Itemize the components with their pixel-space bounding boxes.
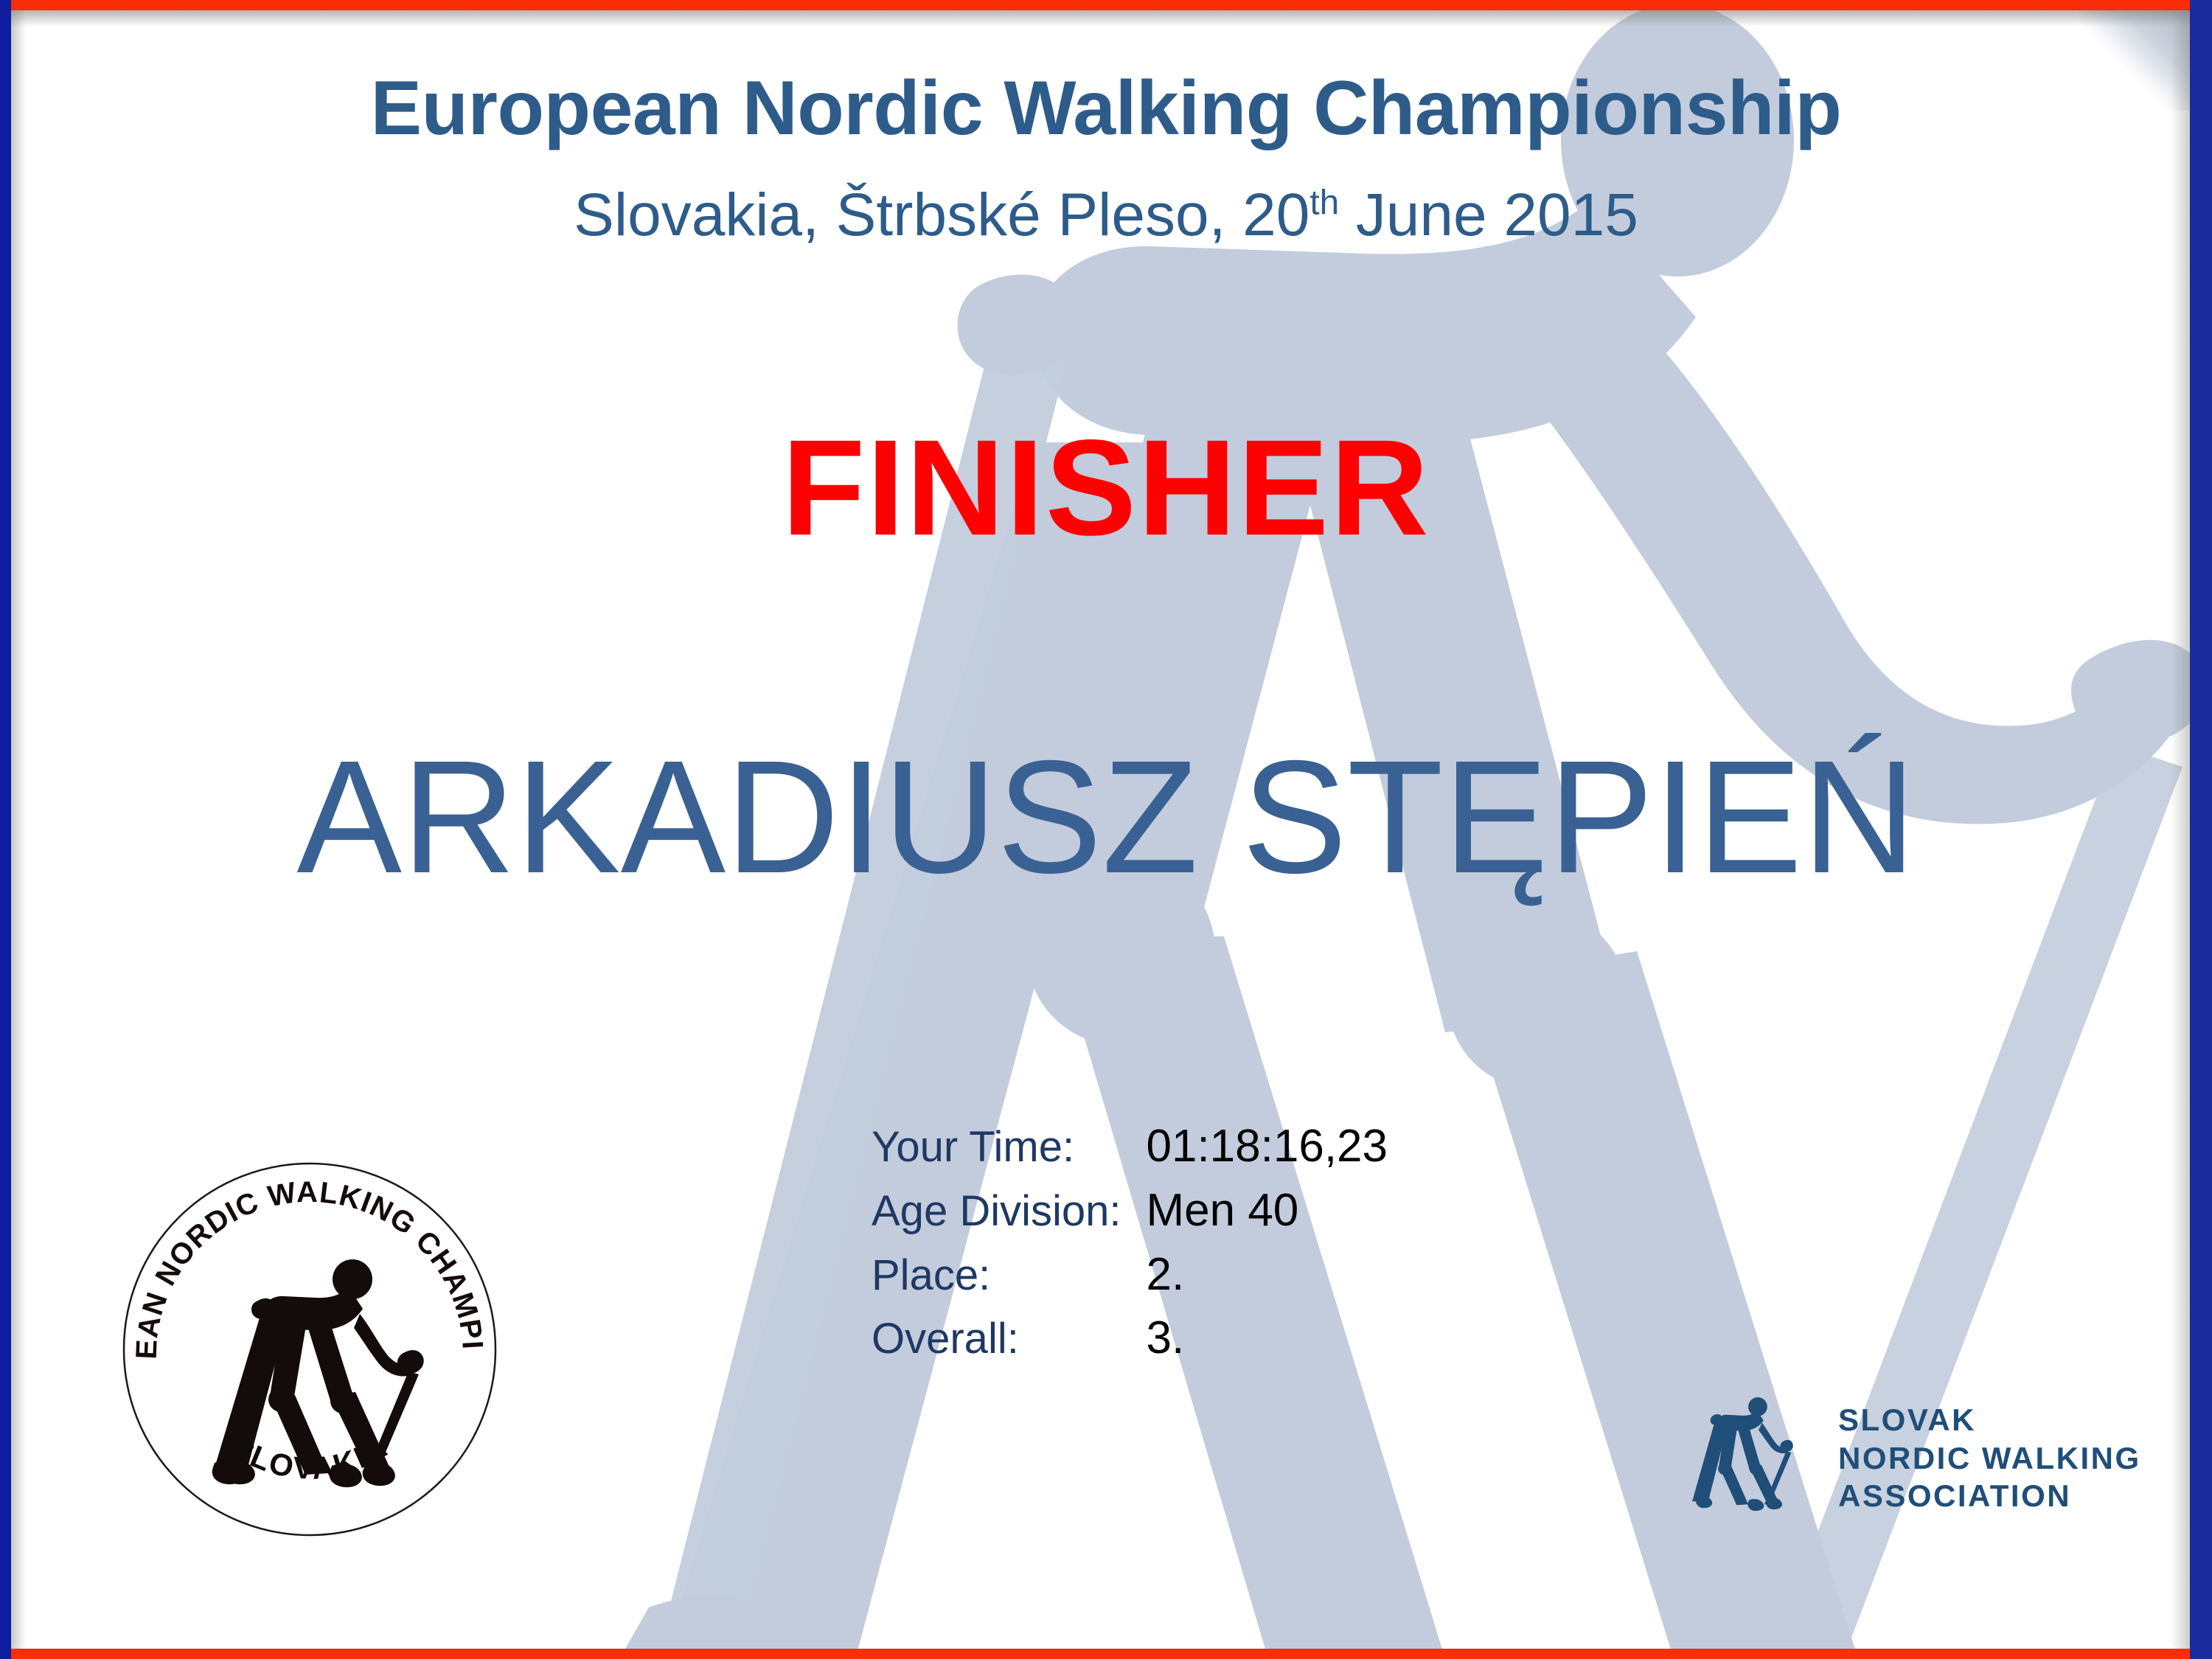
event-subtitle: Slovakia, Štrbské Pleso, 20th June 2015: [0, 147, 2212, 246]
association-walker-icon: [1692, 1394, 1816, 1523]
event-logo: EUROPEAN NORDIC WALKING CHAMPIONSHIP SLO…: [118, 1158, 501, 1541]
left-border-bar: [0, 0, 11, 1659]
results-panel: Your Time: 01:18:16,23 Age Division: Men…: [872, 1115, 1388, 1371]
top-border-shadow: [0, 10, 2212, 27]
event-year: June 2015: [1339, 181, 1638, 248]
association-line-3: ASSOCIATION: [1838, 1480, 2141, 1513]
left-border-shadow: [11, 0, 26, 1659]
right-border-shadow: [2171, 0, 2190, 1659]
date-ordinal-suffix: th: [1310, 184, 1339, 223]
result-value-place: 2.: [1146, 1243, 1388, 1307]
table-row: Your Time: 01:18:16,23: [872, 1115, 1388, 1179]
status-badge: FINISHER: [782, 420, 1430, 557]
athlete-name: ARKADIUSZ STĘPIEŃ: [296, 723, 1916, 912]
result-label-age-division: Age Division:: [872, 1179, 1146, 1243]
event-location-date-prefix: Slovakia, Štrbské Pleso, 20: [574, 181, 1310, 248]
association-logo: SLOVAK NORDIC WALKING ASSOCIATION: [1692, 1385, 2149, 1532]
result-label-your-time: Your Time:: [872, 1115, 1146, 1179]
certificate: European Nordic Walking Championship Slo…: [0, 0, 2212, 1659]
association-logo-text: SLOVAK NORDIC WALKING ASSOCIATION: [1838, 1404, 2141, 1513]
association-line-2: NORDIC WALKING: [1838, 1442, 2141, 1475]
result-value-your-time: 01:18:16,23: [1146, 1115, 1388, 1179]
result-label-place: Place:: [872, 1243, 1146, 1307]
certificate-header: European Nordic Walking Championship Slo…: [0, 0, 2212, 246]
result-label-overall: Overall:: [872, 1307, 1146, 1371]
table-row: Overall: 3.: [872, 1307, 1388, 1371]
right-border-bar: [2190, 0, 2212, 1659]
bottom-border-bar: [0, 1649, 2212, 1659]
result-value-age-division: Men 40: [1146, 1179, 1388, 1243]
result-value-overall: 3.: [1146, 1307, 1388, 1371]
table-row: Age Division: Men 40: [872, 1179, 1388, 1243]
top-border-bar: [0, 0, 2212, 10]
status-badge-container: FINISHER: [0, 420, 2212, 557]
results-table: Your Time: 01:18:16,23 Age Division: Men…: [872, 1115, 1388, 1371]
athlete-name-container: ARKADIUSZ STĘPIEŃ: [0, 723, 2212, 912]
table-row: Place: 2.: [872, 1243, 1388, 1307]
association-line-1: SLOVAK: [1838, 1404, 2141, 1437]
